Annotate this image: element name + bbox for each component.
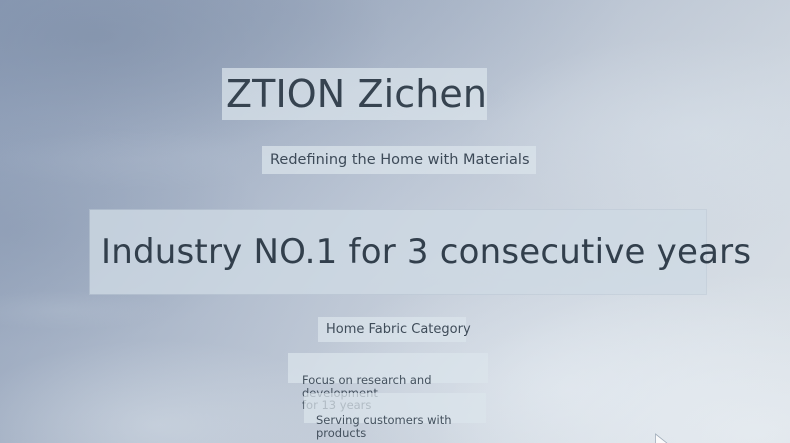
slide-canvas: ZTION Zichen Redefining the Home with Ma… [0,0,790,443]
category-panel: Home Fabric Category [318,317,466,342]
brand-title: ZTION Zichen [222,68,487,120]
headline: Industry NO.1 for 3 consecutive years [90,210,751,294]
tagline-panel: Redefining the Home with Materials [262,146,536,174]
headline-panel: Industry NO.1 for 3 consecutive years [90,210,706,294]
bullet-service-text: Serving customers with products [304,412,486,439]
bullet-panel-service: Serving customers with products [304,393,486,423]
brand-title-panel: ZTION Zichen [222,68,487,120]
category-label: Home Fabric Category [318,317,471,342]
tagline: Redefining the Home with Materials [262,146,530,174]
bullet-panel-rnd: Focus on research and development for 13… [288,353,488,383]
